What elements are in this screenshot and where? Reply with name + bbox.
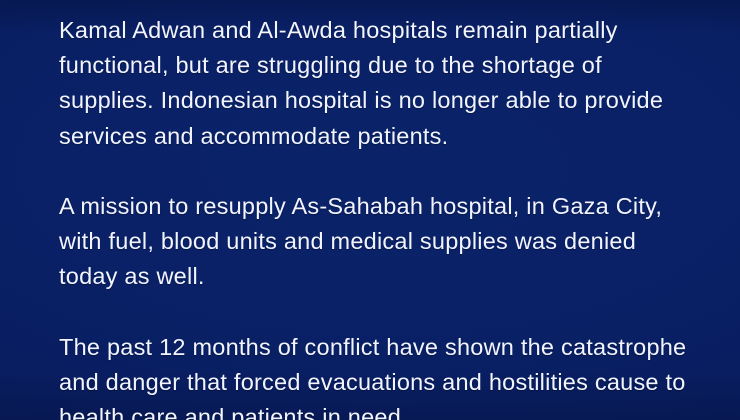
paragraph-hospitals-status: Kamal Adwan and Al-Awda hospitals remain… [59,13,699,154]
paragraph-past-12-months: The past 12 months of conflict have show… [59,330,699,420]
paragraph-mission-denied: A mission to resupply As-Sahabah hospita… [59,189,699,295]
text-card: Kamal Adwan and Al-Awda hospitals remain… [0,0,740,420]
text-body: Kamal Adwan and Al-Awda hospitals remain… [59,13,699,420]
